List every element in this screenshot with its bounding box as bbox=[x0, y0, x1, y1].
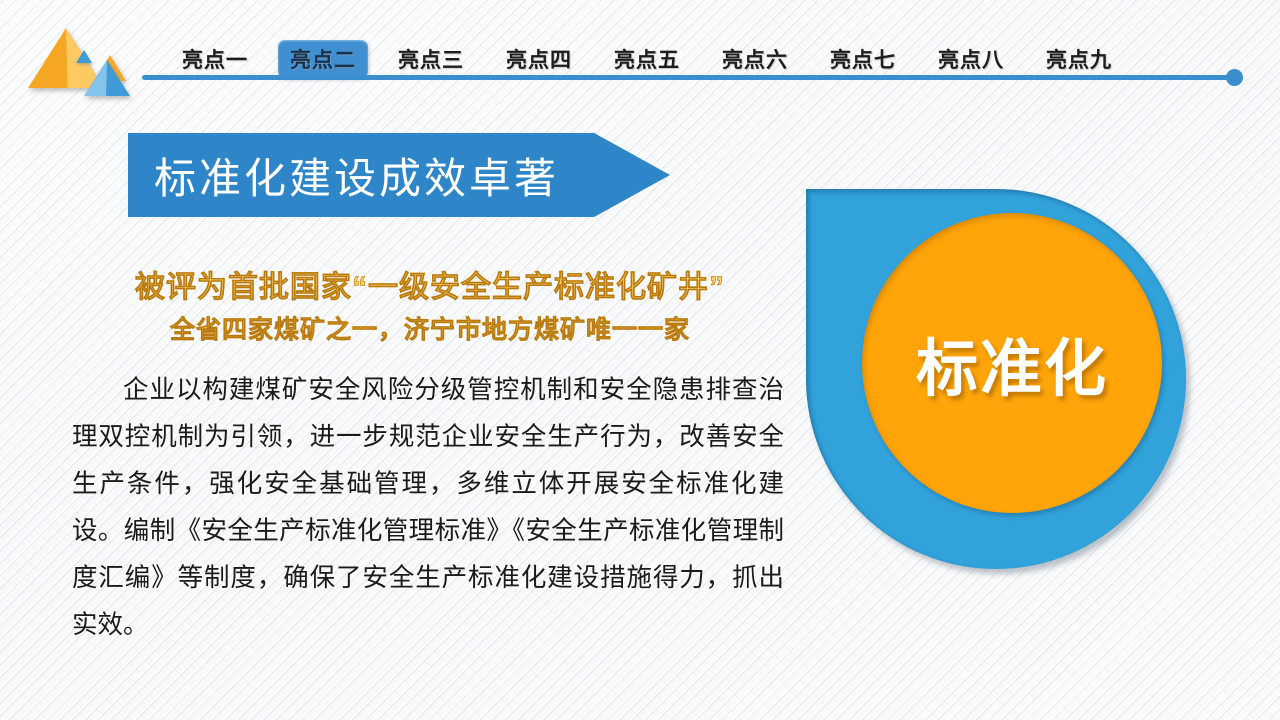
nav-item-1[interactable]: 亮点一 bbox=[170, 40, 260, 78]
section-title-banner: 标准化建设成效卓著 bbox=[128, 133, 670, 217]
mountain-triangles-logo bbox=[18, 22, 136, 94]
nav-item-5[interactable]: 亮点五 bbox=[602, 40, 692, 78]
teardrop-graphic: 标准化 bbox=[806, 189, 1186, 569]
teardrop-label: 标准化 bbox=[916, 318, 1108, 408]
body-paragraph: 企业以构建煤矿安全风险分级管控机制和安全隐患排查治理双控机制为引领，进一步规范企… bbox=[72, 367, 784, 649]
nav-item-8[interactable]: 亮点八 bbox=[926, 40, 1016, 78]
subtitle-line-1: 被评为首批国家“一级安全生产标准化矿井” bbox=[60, 262, 800, 306]
nav-item-7[interactable]: 亮点七 bbox=[818, 40, 908, 78]
subtitle-line-2: 全省四家煤矿之一，济宁市地方煤矿唯一一家 bbox=[60, 310, 800, 346]
slide-canvas: 亮点一 亮点二 亮点三 亮点四 亮点五 亮点六 亮点七 亮点八 亮点九 标准化建… bbox=[0, 0, 1280, 720]
nav-item-9[interactable]: 亮点九 bbox=[1034, 40, 1124, 78]
subtitle-block: 被评为首批国家“一级安全生产标准化矿井” 全省四家煤矿之一，济宁市地方煤矿唯一一… bbox=[60, 262, 800, 346]
page-title: 标准化建设成效卓著 bbox=[154, 145, 559, 206]
section-nav: 亮点一 亮点二 亮点三 亮点四 亮点五 亮点六 亮点七 亮点八 亮点九 bbox=[170, 42, 1124, 76]
nav-underline-rule bbox=[142, 75, 1234, 80]
nav-end-dot-icon bbox=[1226, 69, 1243, 86]
nav-item-2[interactable]: 亮点二 bbox=[278, 40, 368, 78]
nav-item-4[interactable]: 亮点四 bbox=[494, 40, 584, 78]
teardrop-inner-circle: 标准化 bbox=[862, 213, 1162, 513]
nav-item-6[interactable]: 亮点六 bbox=[710, 40, 800, 78]
nav-item-3[interactable]: 亮点三 bbox=[386, 40, 476, 78]
